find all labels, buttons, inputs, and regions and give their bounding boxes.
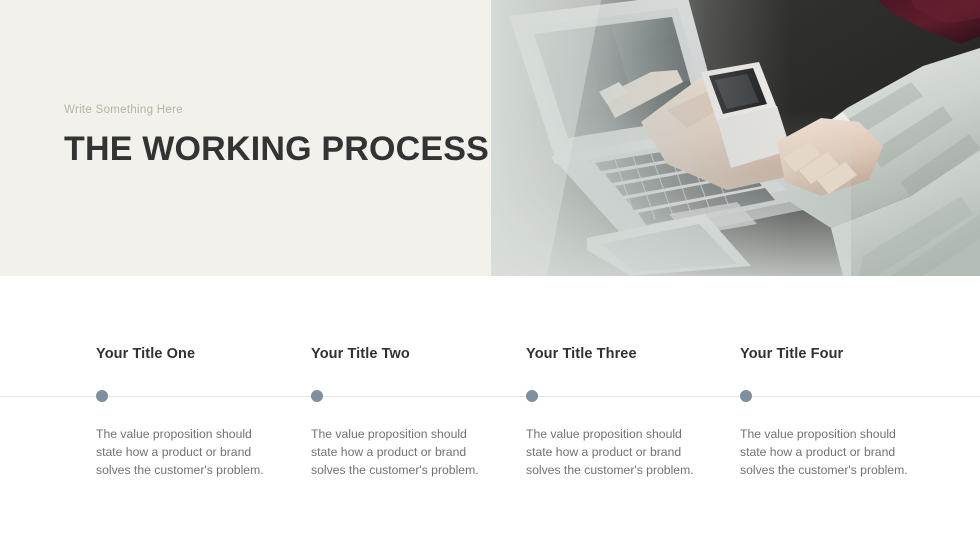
hands-typing-on-laptop-photo	[491, 0, 980, 276]
process-step-2-title: Your Title Two	[311, 346, 410, 362]
timeline-dot-icon	[526, 390, 538, 402]
slide-canvas: Write Something Here THE WORKING PROCESS	[0, 0, 980, 552]
slide-header-band: Write Something Here THE WORKING PROCESS	[0, 0, 980, 276]
timeline-dot-icon	[96, 390, 108, 402]
process-step-4-title: Your Title Four	[740, 346, 843, 362]
process-step-4-body: The value proposition should state how a…	[740, 426, 915, 480]
slide-eyebrow: Write Something Here	[64, 104, 464, 118]
heading-block: Write Something Here THE WORKING PROCESS	[64, 104, 464, 167]
process-step-3-body: The value proposition should state how a…	[526, 426, 701, 480]
timeline-dot-icon	[311, 390, 323, 402]
title-panel: Write Something Here THE WORKING PROCESS	[0, 0, 491, 276]
process-step-1-body: The value proposition should state how a…	[96, 426, 271, 480]
page-title: THE WORKING PROCESS	[64, 132, 464, 168]
timeline-dot-icon	[740, 390, 752, 402]
process-steps-section: Your Title One The value proposition sho…	[0, 276, 980, 552]
process-step-1-title: Your Title One	[96, 346, 195, 362]
timeline-rule	[0, 396, 980, 397]
process-step-2-body: The value proposition should state how a…	[311, 426, 486, 480]
process-step-3-title: Your Title Three	[526, 346, 637, 362]
